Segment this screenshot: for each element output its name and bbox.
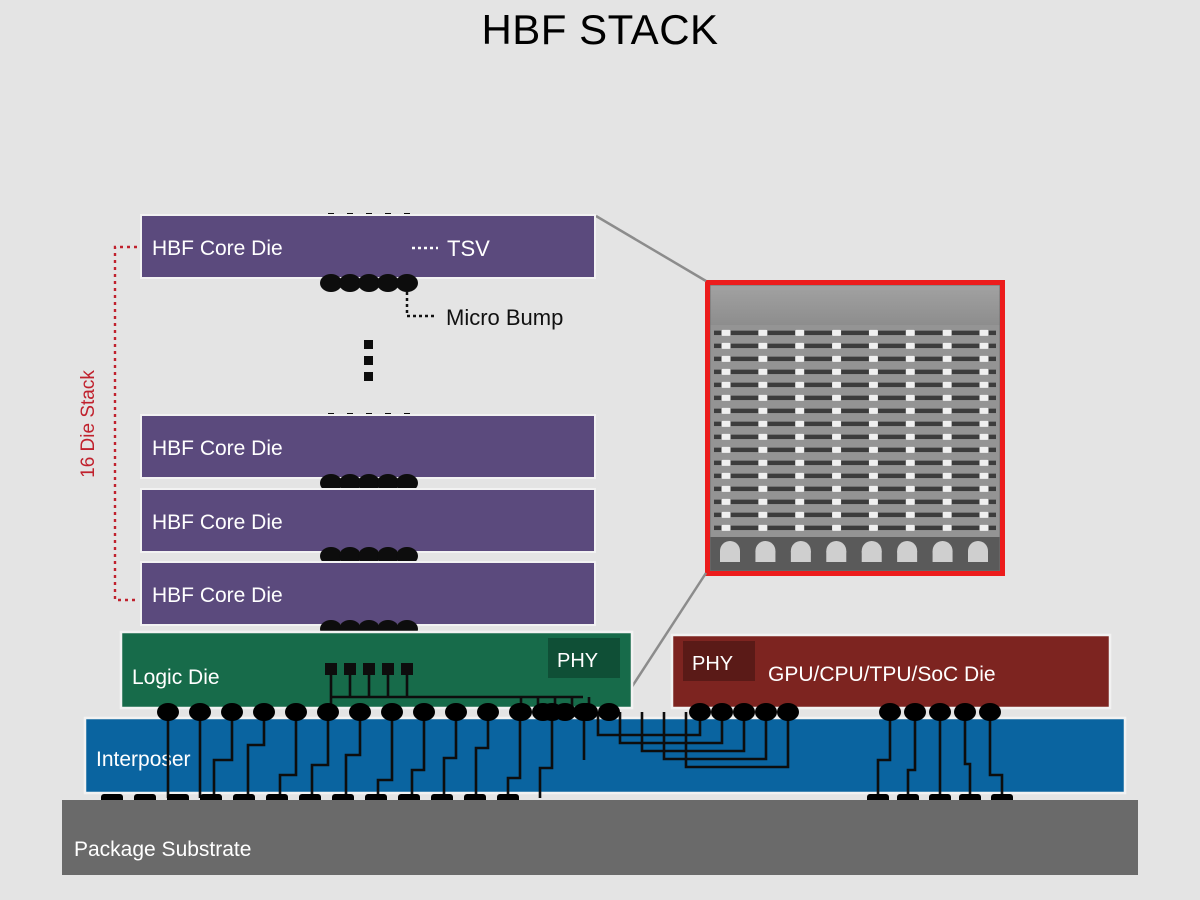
micro-bump	[689, 703, 711, 721]
micro-bump	[317, 703, 339, 721]
core-die-2[interactable]: HBF Core Die	[141, 415, 595, 478]
micro-bump-callout: Micro Bump	[407, 292, 563, 330]
micro-bump	[954, 703, 976, 721]
interposer-label: Interposer	[96, 748, 191, 771]
micro-bump	[510, 703, 532, 721]
core-die-3[interactable]: HBF Core Die	[141, 489, 595, 552]
tsv-callout-label: TSV	[447, 236, 490, 261]
diagram-canvas: HBF STACK 16 Die Stack	[0, 0, 1200, 900]
micro-bump	[532, 703, 554, 721]
micro-bump	[755, 703, 777, 721]
micro-bump	[413, 703, 435, 721]
micro-bump	[285, 703, 307, 721]
micro-bump-callout-label: Micro Bump	[446, 305, 563, 330]
core-die-top[interactable]: HBF Core Die	[141, 215, 595, 278]
micro-bump	[777, 703, 799, 721]
soc-die-label: GPU/CPU/TPU/SoC Die	[768, 663, 996, 686]
soc-die-phy-block[interactable]: PHY	[683, 641, 755, 681]
micro-bump	[349, 703, 371, 721]
logic-phy-label: PHY	[557, 650, 598, 672]
core-die-4[interactable]: HBF Core Die	[141, 562, 595, 625]
die-stack-label: 16 Die Stack	[78, 370, 99, 478]
micro-bump	[904, 703, 926, 721]
micro-bump	[929, 703, 951, 721]
logic-die-label: Logic Die	[132, 666, 220, 689]
core-die-label: HBF Core Die	[152, 511, 283, 534]
micro-bump	[445, 703, 467, 721]
vertical-ellipsis-icon	[364, 340, 373, 381]
micro-bump	[979, 703, 1001, 721]
micro-bump-row-top	[320, 274, 418, 292]
micro-bump	[711, 703, 733, 721]
core-die-label: HBF Core Die	[152, 437, 283, 460]
micro-bump	[221, 703, 243, 721]
soc-phy-label: PHY	[692, 653, 733, 675]
bump-row-phy-interposer	[510, 703, 620, 721]
package-substrate[interactable]: Package Substrate	[62, 800, 1138, 875]
core-die-label: HBF Core Die	[152, 584, 283, 607]
micro-bump	[157, 703, 179, 721]
substrate-label: Package Substrate	[74, 838, 251, 861]
micro-bump	[733, 703, 755, 721]
micro-bump	[554, 703, 576, 721]
micro-bump	[253, 703, 275, 721]
micro-bump	[477, 703, 499, 721]
micro-bump	[879, 703, 901, 721]
diagram-vector-layer: 16 Die Stack HBF Core Die TSV	[0, 0, 1200, 900]
die-stack-bracket	[115, 247, 137, 600]
logic-die-phy-block[interactable]: PHY	[548, 638, 620, 678]
micro-bump	[576, 703, 598, 721]
core-die-label: HBF Core Die	[152, 237, 283, 260]
micro-bump	[598, 703, 620, 721]
leader-line-top	[596, 216, 706, 281]
micro-bump	[189, 703, 211, 721]
micro-bump	[381, 703, 403, 721]
